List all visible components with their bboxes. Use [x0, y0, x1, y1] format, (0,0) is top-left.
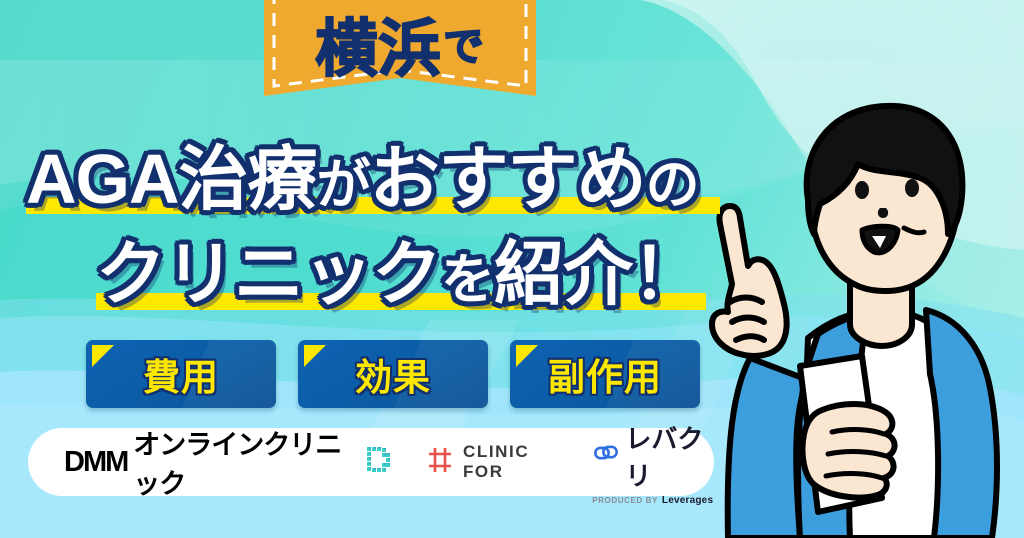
red-cross-grid-icon — [426, 446, 454, 479]
badge-effect[interactable]: 効果 — [298, 340, 488, 408]
ribbon-label: 横浜で — [264, 0, 536, 110]
ribbon-city: 横浜 — [315, 0, 441, 88]
ribbon-banner: 横浜で — [264, 0, 536, 110]
clinic-for-wordmark: CLINIC FOR — [463, 442, 559, 482]
dmm-service-label: オンラインクリニック — [133, 423, 352, 501]
corner-triangle-icon — [304, 345, 326, 367]
headline-line-1: AGA治療がおすすめの — [0, 132, 720, 226]
feature-badges: 費用 効果 副作用 — [86, 340, 700, 408]
partner-logo-bar: DMM オンラインクリニック — [28, 428, 714, 496]
hero-banner: 横浜で AGA治療がおすすめの クリニックを紹介！ 費用 効果 副作用 — [0, 0, 1024, 538]
dmm-pixel-d-icon — [366, 445, 392, 480]
produced-by-label: PRODUCED BY — [592, 496, 658, 505]
logo-dmm-online-clinic[interactable]: DMM オンラインクリニック — [64, 423, 392, 501]
headline-1-tail: の — [646, 155, 699, 215]
headline-1-main: AGA治療 — [26, 140, 317, 218]
headline-block: AGA治療がおすすめの クリニックを紹介！ — [0, 132, 720, 322]
logo-clinic-for[interactable]: CLINIC FOR — [426, 442, 559, 482]
badge-label: 費用 — [143, 347, 219, 401]
blue-chain-link-icon — [591, 442, 619, 469]
headline-line-2: クリニックを紹介！ — [0, 226, 720, 322]
badge-label: 効果 — [355, 347, 431, 401]
headline-2-kana: を — [441, 250, 494, 310]
badge-label: 副作用 — [548, 347, 662, 401]
headline-2-bang: ！ — [632, 235, 701, 313]
headline-text-1: AGA治療がおすすめの — [26, 144, 699, 214]
headline-text-2: クリニックを紹介！ — [96, 239, 701, 309]
badge-side-effects[interactable]: 副作用 — [510, 340, 700, 408]
corner-triangle-icon — [516, 345, 538, 367]
character-illustration — [690, 88, 1024, 538]
headline-2-main: クリニック — [96, 235, 441, 313]
dmm-wordmark: DMM — [64, 446, 127, 479]
headline-2-rest: 紹介 — [494, 235, 632, 313]
ribbon-particle: で — [444, 14, 485, 72]
corner-triangle-icon — [92, 345, 114, 367]
badge-cost[interactable]: 費用 — [86, 340, 276, 408]
headline-1-rest: おすすめ — [370, 140, 646, 218]
headline-1-kana: が — [317, 155, 370, 215]
